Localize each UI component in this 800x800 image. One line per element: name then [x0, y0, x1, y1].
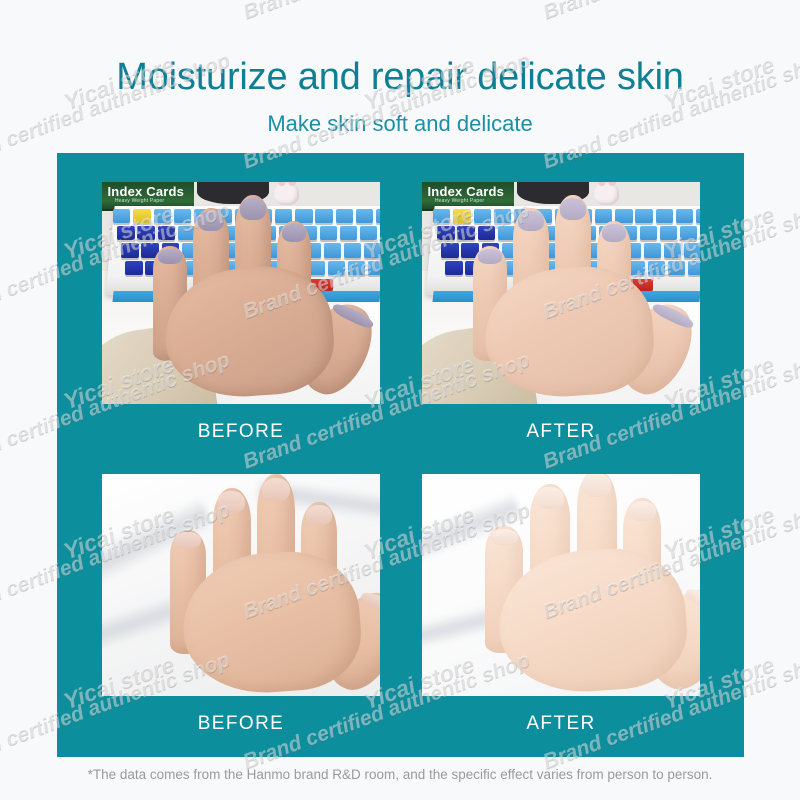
fingernail: [158, 249, 182, 264]
keycap: [344, 243, 361, 257]
fingernail: [560, 198, 586, 220]
keycap: [684, 243, 700, 257]
photo-fabric-after: [422, 474, 700, 696]
keycap: [368, 261, 380, 275]
keycap: [364, 243, 380, 257]
fingernail: [602, 224, 626, 242]
fingernail: [518, 211, 544, 231]
hand-graphic: [158, 474, 369, 696]
header: Moisturize and repair delicate skin Make…: [0, 0, 800, 153]
thumbnail: [359, 588, 380, 620]
disclaimer-text: *The data comes from the Hanmo brand R&D…: [0, 766, 800, 784]
scene-fabric-dull: [102, 474, 380, 696]
palm: [178, 547, 365, 696]
caption-after: AFTER: [422, 712, 700, 736]
comparison-cell-fabric-before: BEFORE: [102, 474, 380, 759]
fingernail: [491, 529, 518, 546]
caption-before: BEFORE: [102, 712, 380, 736]
comparison-row-keyboard: Index Cards Heavy Weight Paper: [57, 182, 744, 467]
photo-fabric-before: [102, 474, 380, 696]
keycap: [696, 209, 700, 223]
page-title: Moisturize and repair delicate skin: [0, 54, 800, 100]
page-subtitle: Make skin soft and delicate: [0, 110, 800, 138]
fingernail: [306, 505, 332, 525]
fingernail: [629, 501, 656, 521]
keycap: [676, 209, 693, 223]
keycap: [437, 226, 454, 240]
scene-keyboard-bright: Index Cards Heavy Weight Paper: [422, 182, 700, 404]
scene-fabric-bright: [422, 474, 700, 696]
comparison-cell-fabric-after: AFTER: [422, 474, 700, 759]
keycap: [356, 209, 373, 223]
fingernail: [218, 491, 245, 513]
keycap: [360, 226, 377, 240]
scene-keyboard-dull: Index Cards Heavy Weight Paper: [102, 182, 380, 404]
fingernail: [282, 224, 306, 242]
palm: [161, 262, 338, 401]
hand-graphic: [461, 191, 661, 404]
caption-before: BEFORE: [102, 420, 380, 444]
fingernail: [175, 532, 201, 548]
palm: [481, 262, 658, 401]
fingernail: [198, 211, 224, 231]
keycap: [668, 261, 685, 275]
photo-keyboard-after: Index Cards Heavy Weight Paper: [422, 182, 700, 404]
keycap: [688, 261, 700, 275]
keycap: [433, 209, 450, 223]
comparison-cell-keyboard-after: Index Cards Heavy Weight Paper: [422, 182, 700, 467]
keycap: [660, 226, 677, 240]
fingernail: [262, 478, 289, 501]
fingernail: [240, 198, 266, 220]
comparison-cell-keyboard-before: Index Cards Heavy Weight Paper: [102, 182, 380, 467]
photo-keyboard-before: Index Cards Heavy Weight Paper: [102, 182, 380, 404]
fingernail: [535, 487, 564, 509]
hand-graphic: [141, 191, 341, 404]
keycap: [664, 243, 681, 257]
caption-after: AFTER: [422, 420, 700, 444]
product-detail-image: Moisturize and repair delicate skin Make…: [0, 0, 800, 800]
palm: [494, 543, 690, 696]
fingernail: [478, 249, 502, 264]
keycap: [121, 243, 138, 257]
thumbnail: [683, 586, 700, 619]
keycap: [376, 209, 380, 223]
keycap: [340, 226, 357, 240]
fingernail: [582, 474, 611, 497]
hand-graphic: [472, 474, 694, 696]
keycap: [348, 261, 365, 275]
comparison-row-fabric: BEFORE AFTER: [57, 474, 744, 759]
comparison-panel: Index Cards Heavy Weight Paper: [57, 153, 744, 757]
keycap: [113, 209, 130, 223]
keycap: [680, 226, 697, 240]
keycap: [441, 243, 458, 257]
keycap: [117, 226, 134, 240]
